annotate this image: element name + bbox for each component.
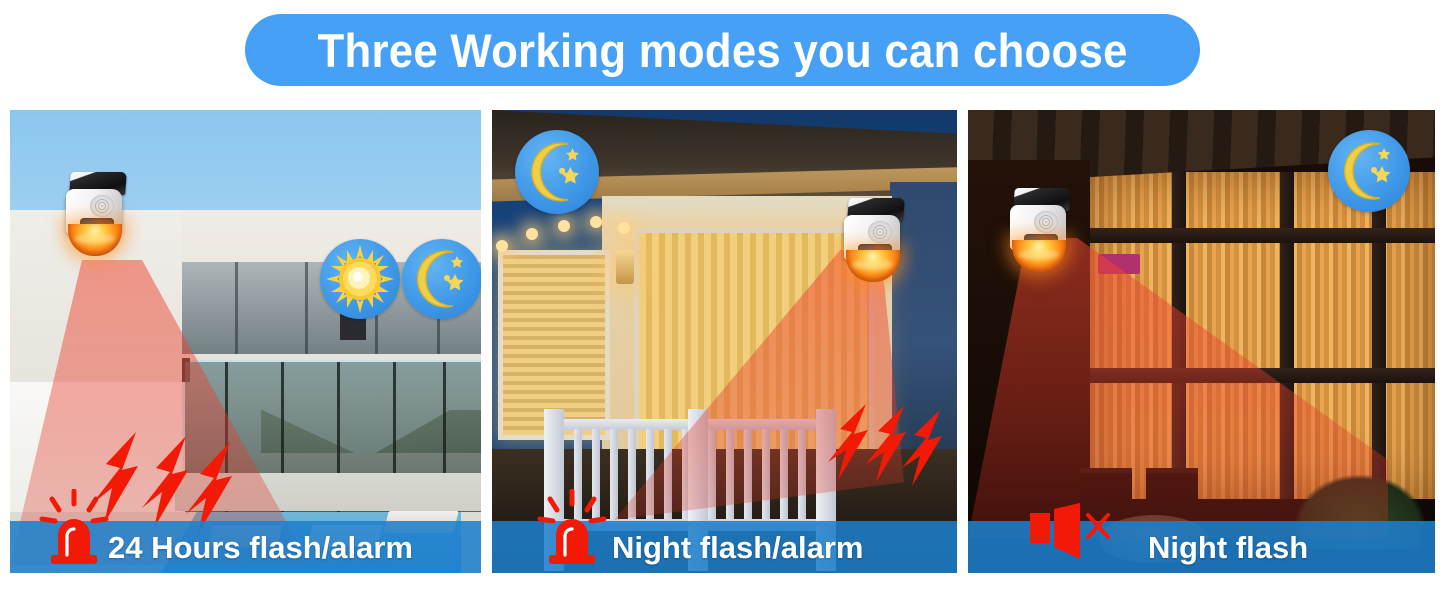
solar-alarm-device <box>1010 188 1072 272</box>
mode-panels: 24 Hours flash/alarm <box>10 110 1435 573</box>
strobe-light <box>1012 240 1066 272</box>
title-pill: Three Working modes you can choose <box>245 14 1200 86</box>
caption-bar-night-flash: Night flash <box>968 521 1435 573</box>
caption-label: Night flash <box>1148 532 1308 563</box>
caption-label: Night flash/alarm <box>612 532 864 563</box>
sun-icon <box>323 242 397 316</box>
mode-panel-night-flash[interactable]: Night flash <box>968 110 1435 573</box>
caption-label: 24 Hours flash/alarm <box>108 532 413 563</box>
badge-moon <box>1328 130 1410 212</box>
wall-lower-panel <box>10 382 182 512</box>
patio-chair <box>1080 468 1132 519</box>
terrace-deck <box>175 473 481 511</box>
solar-alarm-device <box>66 172 128 256</box>
moon-icon <box>523 138 591 206</box>
mode-panel-night-flash-alarm[interactable]: Night flash/alarm <box>492 110 957 573</box>
moon-icon <box>1336 138 1402 204</box>
caption-bar-night-flash-alarm: Night flash/alarm <box>492 521 957 573</box>
porch-railing <box>544 419 834 531</box>
strobe-light <box>68 224 122 256</box>
badge-sun <box>320 239 400 319</box>
string-lights <box>492 206 632 258</box>
speaker-grille-icon <box>1034 211 1058 233</box>
speaker-grille-icon <box>90 195 114 217</box>
header-banner: Three Working modes you can choose <box>0 0 1445 100</box>
strobe-light <box>846 250 900 282</box>
patio-chair <box>1146 468 1198 519</box>
wall-plaque <box>1098 254 1140 274</box>
moon-icon <box>409 246 475 312</box>
mode-panel-24-hours[interactable]: 24 Hours flash/alarm <box>10 110 481 573</box>
page-title: Three Working modes you can choose <box>317 27 1127 74</box>
badge-moon <box>402 239 481 319</box>
lit-curtain-facade <box>1086 172 1435 499</box>
solar-alarm-device <box>844 198 906 282</box>
speaker-grille-icon <box>868 221 892 243</box>
caption-bar-24-hours: 24 Hours flash/alarm <box>10 521 481 573</box>
badge-moon <box>515 130 599 214</box>
